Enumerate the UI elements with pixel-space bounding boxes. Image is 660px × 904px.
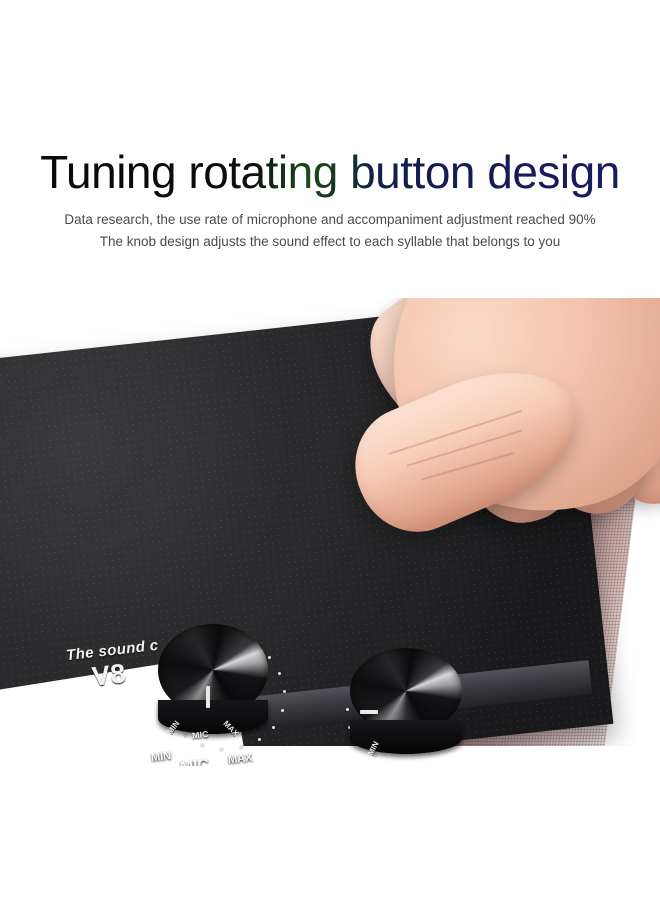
mic-scale-max: MAX: [227, 752, 253, 766]
subtitle-line-2: The knob design adjusts the sound effect…: [0, 231, 660, 253]
model-text: V8: [90, 658, 127, 693]
mic-knob[interactable]: [158, 624, 268, 734]
thumb-crease-2: [407, 430, 522, 467]
page-title: Tuning rotating button design: [0, 146, 660, 198]
photo-bottom-mask: [0, 746, 660, 766]
echo-knob-indicator: [360, 710, 378, 714]
thumb-crease-1: [388, 410, 522, 455]
product-banner: Tuning rotating button design Data resea…: [0, 0, 660, 904]
mic-knob-indicator: [206, 686, 210, 708]
mic-scale-min: MIN: [150, 750, 171, 764]
subtitle-line-1: Data research, the use rate of microphon…: [0, 209, 660, 231]
echo-knob[interactable]: [350, 648, 462, 754]
mic-ring-label-mic: MIC: [192, 729, 209, 741]
product-photo: The sound c V8 MIN MIC MAX MIN MAX MIC: [0, 298, 660, 766]
